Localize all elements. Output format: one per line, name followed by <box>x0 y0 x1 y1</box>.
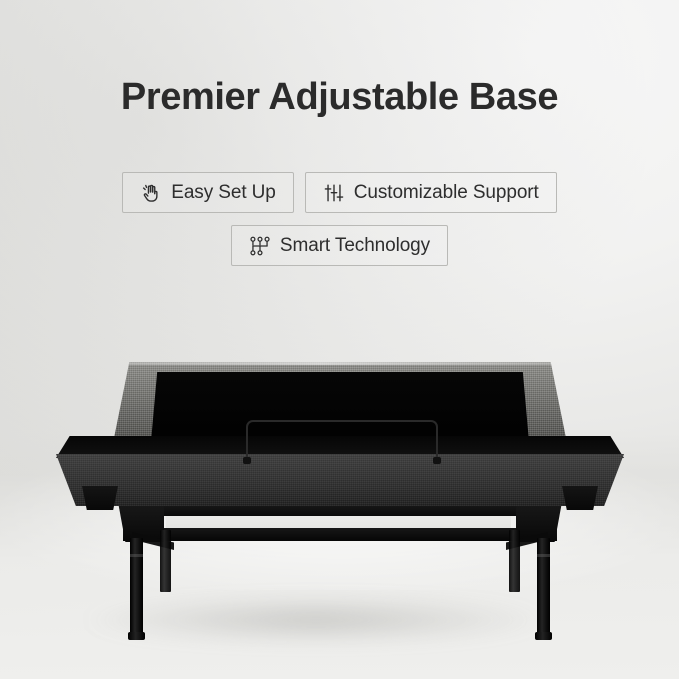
feature-pill-label: Smart Technology <box>280 235 430 257</box>
retainer-anchor-left <box>243 457 251 464</box>
hand-tap-icon <box>140 182 162 204</box>
sliders-icon <box>323 182 345 204</box>
feature-pill-group: Easy Set Up Customizable Support <box>0 172 679 266</box>
frame-rail-bottom <box>123 528 557 541</box>
metal-frame <box>110 502 570 642</box>
feature-pill-customizable-support[interactable]: Customizable Support <box>305 172 557 213</box>
mattress-retainer-bar <box>246 420 438 462</box>
feature-pill-label: Easy Set Up <box>171 182 276 204</box>
feature-pill-label: Customizable Support <box>354 182 539 204</box>
retainer-anchor-right <box>433 457 441 464</box>
network-nodes-icon <box>249 235 271 257</box>
page-title: Premier Adjustable Base <box>0 76 679 119</box>
feature-pill-smart-technology[interactable]: Smart Technology <box>231 225 448 266</box>
leg-front-left <box>130 538 143 634</box>
leg-foot <box>535 632 552 640</box>
leg-back-right <box>509 530 520 592</box>
product-hero-scene: Premier Adjustable Base Easy Set Up <box>0 0 679 679</box>
adjustable-bed-base-image <box>0 352 679 642</box>
feature-pill-easy-set-up[interactable]: Easy Set Up <box>122 172 294 213</box>
head-panel-top-edge <box>129 362 550 365</box>
retainer-bar-frame <box>246 420 438 460</box>
leg-back-left <box>160 530 171 592</box>
leg-front-right <box>537 538 550 634</box>
feature-pill-row-2: Smart Technology <box>0 225 679 266</box>
frame-rail-gap <box>166 515 511 529</box>
feature-pill-row-1: Easy Set Up Customizable Support <box>0 172 679 213</box>
leg-foot <box>128 632 145 640</box>
